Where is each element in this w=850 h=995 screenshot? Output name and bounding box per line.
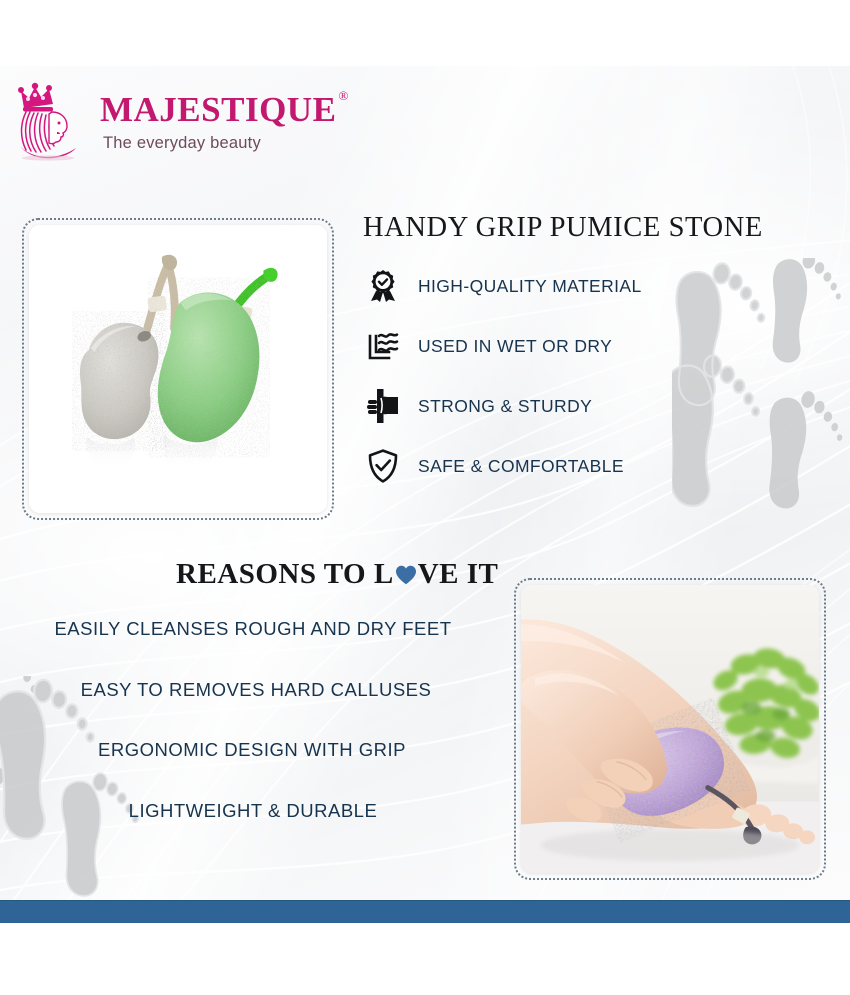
reasons-list: EASILY CLEANSES ROUGH AND DRY FEET EASY … <box>0 612 512 820</box>
reasons-title-after: VE IT <box>418 558 499 591</box>
foot-usage-photo-card <box>514 578 826 880</box>
reason-item: EASY TO REMOVES HARD CALLUSES <box>0 681 512 700</box>
feature-item: USED IN WET OR DRY <box>362 316 832 376</box>
shield-check-icon <box>362 449 404 483</box>
feature-label: SAFE & COMFORTABLE <box>418 456 624 477</box>
bottom-accent-bar <box>0 900 850 925</box>
reasons-title: REASONS TO L VE IT <box>176 558 498 591</box>
registered-mark: ® <box>338 89 348 102</box>
crowned-woman-profile-icon <box>14 82 86 162</box>
header-band <box>0 0 850 66</box>
award-badge-check-icon <box>362 270 404 302</box>
brand-name: MAJESTIQUE® <box>100 92 336 127</box>
heart-icon <box>395 560 417 580</box>
two-pumice-stones-photo <box>29 225 327 513</box>
brand-tagline: The everyday beauty <box>103 134 336 153</box>
feature-list: HIGH-QUALITY MATERIAL USED IN WET OR DRY <box>362 256 832 496</box>
wet-or-dry-water-icon <box>362 330 404 362</box>
product-headline: HANDY GRIP PUMICE STONE <box>363 212 833 244</box>
bottom-white-area <box>0 923 850 995</box>
reason-item: ERGONOMIC DESIGN WITH GRIP <box>0 741 512 760</box>
feature-item: SAFE & COMFORTABLE <box>362 436 832 496</box>
feature-label: STRONG & STURDY <box>418 396 592 417</box>
feature-item: STRONG & STURDY <box>362 376 832 436</box>
feature-label: HIGH-QUALITY MATERIAL <box>418 276 642 297</box>
pumice-stones-photo-card <box>22 218 334 520</box>
brand-logo: MAJESTIQUE® The everyday beauty <box>14 82 336 162</box>
reasons-title-before: REASONS TO L <box>176 558 394 591</box>
product-infographic: MAJESTIQUE® The everyday beauty <box>0 0 850 995</box>
feature-label: USED IN WET OR DRY <box>418 336 612 357</box>
brand-name-text: MAJESTIQUE <box>100 90 336 129</box>
gripping-hand-icon <box>362 389 404 423</box>
feature-item: HIGH-QUALITY MATERIAL <box>362 256 832 316</box>
reason-item: EASILY CLEANSES ROUGH AND DRY FEET <box>0 620 512 639</box>
pumice-stone-on-foot-photo <box>521 585 819 873</box>
reason-item: LIGHTWEIGHT & DURABLE <box>0 802 512 821</box>
